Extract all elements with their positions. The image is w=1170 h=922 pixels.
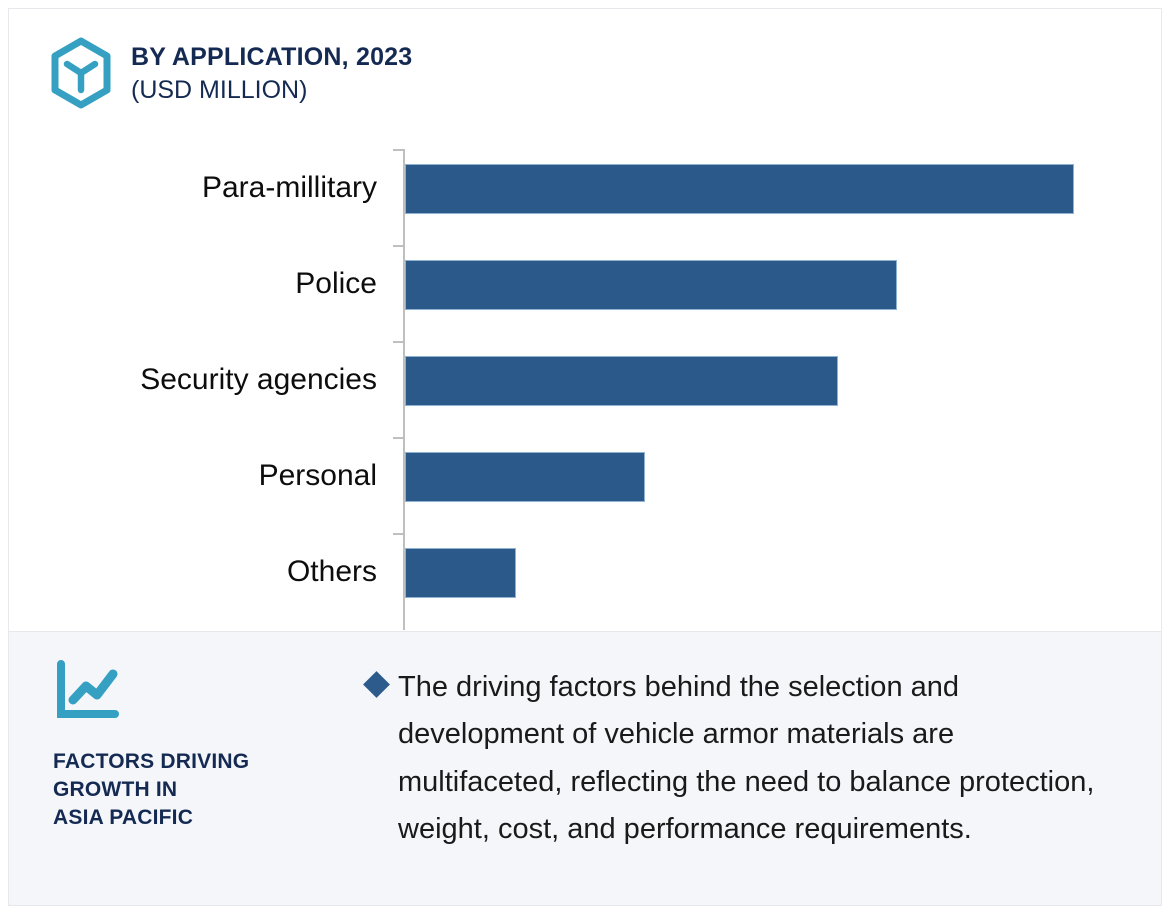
factors-body: The driving factors behind the selection… [367,664,1103,853]
axis-tick [393,341,404,343]
header-title-block: BY APPLICATION, 2023 (USD MILLION) [131,33,412,105]
diamond-bullet-icon [363,671,390,698]
category-label: Police [8,253,377,315]
axis-tick [393,149,404,151]
factors-panel-left: FACTORS DRIVING GROWTH IN ASIA PACIFIC [53,660,353,832]
factors-panel: FACTORS DRIVING GROWTH IN ASIA PACIFIC T… [9,631,1162,906]
bar-others [405,548,516,598]
factors-heading-line1: FACTORS DRIVING [53,748,353,776]
axis-tick [393,437,404,439]
factors-body-text: The driving factors behind the selection… [398,664,1103,853]
chart-row: Security agencies [9,333,1162,429]
chart-row: Police [9,237,1162,333]
factors-heading: FACTORS DRIVING GROWTH IN ASIA PACIFIC [53,748,353,832]
bar-personal [405,452,645,502]
category-label: Security agencies [8,349,377,411]
bar-para-millitary [405,164,1074,214]
infographic-card: BY APPLICATION, 2023 (USD MILLION) Para-… [8,8,1162,906]
category-label: Para-millitary [8,157,377,219]
chart-header: BY APPLICATION, 2023 (USD MILLION) [49,33,412,109]
bar-security-agencies [405,356,838,406]
category-label: Personal [8,445,377,507]
hexagon-y-icon [49,37,113,109]
bar-police [405,260,897,310]
bar-chart: Para-millitary Police Security agencies … [9,141,1162,633]
line-chart-icon [53,660,125,722]
chart-row: Para-millitary [9,141,1162,237]
axis-tick [393,533,404,535]
category-label: Others [8,541,377,603]
factors-heading-line3: ASIA PACIFIC [53,804,353,832]
chart-row: Others [9,525,1162,621]
page-subtitle: (USD MILLION) [131,75,412,105]
chart-row: Personal [9,429,1162,525]
axis-tick [393,245,404,247]
factors-heading-line2: GROWTH IN [53,776,353,804]
page-title: BY APPLICATION, 2023 [131,43,412,73]
